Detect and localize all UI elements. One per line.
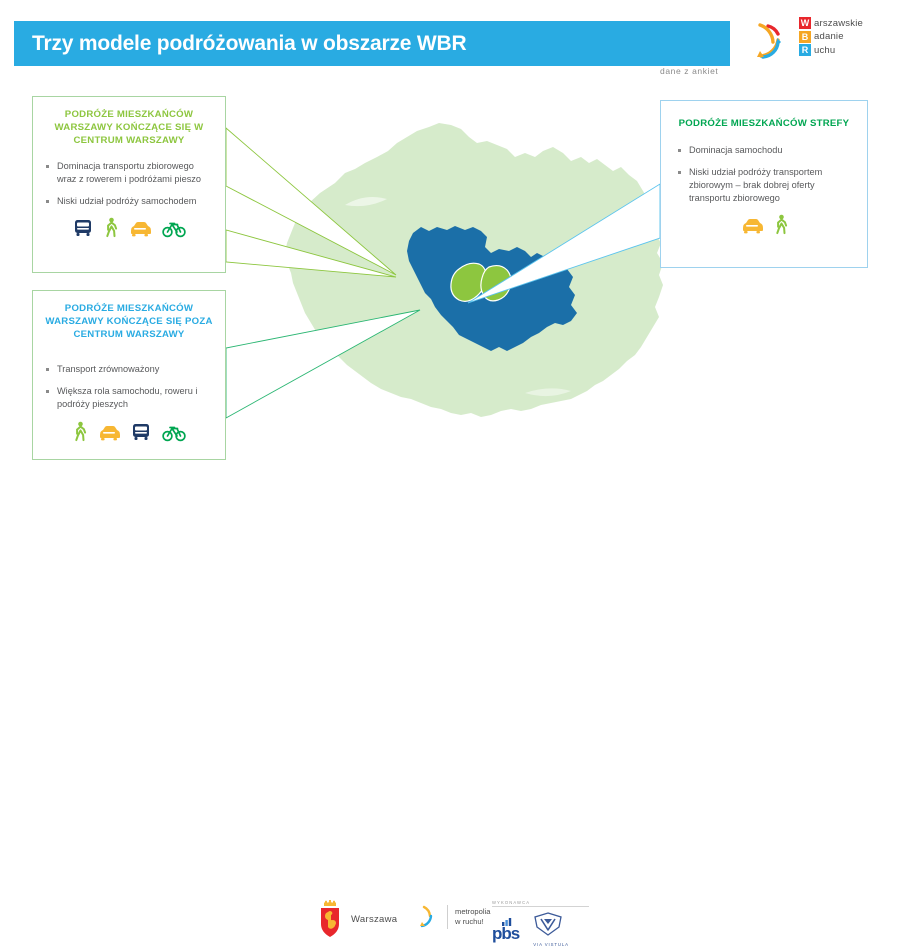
list-item: Niski udział podróży samochodem [43, 195, 211, 208]
info-box-outside-center-bullets: Transport zrównoważony Większa rola samo… [43, 363, 211, 411]
bicycle-icon [162, 217, 186, 239]
list-item: Transport zrównoważony [43, 363, 211, 376]
wbr-logo-row-b: B adanie [799, 31, 863, 43]
list-item: Większa rola samochodu, roweru i podróży… [43, 385, 211, 411]
info-box-zone-residents-icons [661, 214, 867, 236]
warsaw-metropolitan-area-map [225, 85, 665, 455]
wbr-letter-b: B [799, 31, 811, 43]
wbr-letter-w: W [799, 17, 811, 29]
pedestrian-icon [774, 214, 788, 236]
list-item: Dominacja transportu zbiorowego wraz z r… [43, 160, 211, 186]
pbs-logo-label: pbs [492, 926, 519, 941]
wbr-word-ruchu: uchu [814, 45, 835, 56]
executor-logos: WYKONAWCA pbs VIA [492, 900, 589, 947]
info-box-outside-center-icons [33, 421, 225, 443]
metropolia-logo-label-line1: metropolia [455, 907, 490, 917]
footer-logos: Warszawa metropolia w ruchu! WYKONAWCA [0, 448, 900, 507]
viavistula-mark-icon [533, 912, 563, 936]
wbr-logo-row-w: W arszawskie [799, 17, 863, 29]
metropolia-logo-label-line2: w ruchu! [455, 917, 490, 927]
info-box-zone-residents-bullets: Dominacja samochodu Niski udział podróży… [675, 144, 851, 205]
wbr-swoosh-logo [755, 18, 795, 62]
info-box-outside-center: PODRÓŻE MIESZKAŃCÓW WARSZAWY KOŃCZĄCE SI… [32, 290, 226, 460]
info-box-outside-center-title: PODRÓŻE MIESZKAŃCÓW WARSZAWY KOŃCZĄCE SI… [41, 302, 217, 341]
car-icon [741, 214, 763, 236]
slide-canvas: Trzy modele podróżowania w obszarze WBR … [0, 0, 900, 507]
header-title-bar: Trzy modele podróżowania w obszarze WBR [14, 21, 730, 66]
info-box-center-warsaw-bullets: Dominacja transportu zbiorowego wraz z r… [43, 160, 211, 208]
list-item: Dominacja samochodu [675, 144, 851, 157]
pbs-mark-icon [502, 918, 514, 926]
car-icon [98, 421, 120, 443]
bus-icon [73, 217, 93, 239]
pedestrian-icon [73, 421, 87, 443]
wbr-logo: W arszawskie B adanie R uchu [755, 16, 885, 64]
metropolia-logo-divider [447, 905, 448, 929]
wbr-letter-r: R [799, 44, 811, 56]
warszawa-logo-label: Warszawa [351, 914, 397, 925]
info-box-zone-residents: PODRÓŻE MIESZKAŃCÓW STREFY Dominacja sam… [660, 100, 868, 268]
metropolia-logo-label: metropolia w ruchu! [455, 907, 490, 927]
wbr-logo-wordmark: W arszawskie B adanie R uchu [799, 17, 863, 58]
bus-icon [131, 421, 151, 443]
page-title: Trzy modele podróżowania w obszarze WBR [32, 32, 466, 56]
executor-caption: WYKONAWCA [492, 900, 589, 905]
list-item: Niski udział podróży transportem zbiorow… [675, 166, 851, 205]
metropolia-logo: metropolia w ruchu! [418, 904, 490, 930]
bicycle-icon [162, 421, 186, 443]
metropolia-swoosh-icon [418, 904, 440, 930]
executor-logo-row: pbs VIA VISTULA [492, 912, 589, 947]
info-box-zone-residents-title: PODRÓŻE MIESZKAŃCÓW STREFY [675, 117, 853, 130]
info-box-center-warsaw: PODRÓŻE MIESZKAŃCÓW WARSZAWY KOŃCZĄCE SI… [32, 96, 226, 273]
wbr-logo-row-r: R uchu [799, 44, 863, 56]
pbs-logo: pbs [492, 918, 519, 941]
pedestrian-icon [104, 217, 118, 239]
car-icon [129, 217, 151, 239]
viavistula-logo: VIA VISTULA [533, 912, 569, 947]
source-note: dane z ankiet [660, 66, 718, 76]
info-box-center-warsaw-title: PODRÓŻE MIESZKAŃCÓW WARSZAWY KOŃCZĄCE SI… [43, 108, 215, 147]
executor-divider [492, 906, 589, 907]
warszawa-crest-icon [317, 900, 343, 938]
viavistula-logo-label: VIA VISTULA [533, 942, 569, 947]
wbr-word-badanie: adanie [814, 31, 844, 42]
info-box-center-warsaw-icons [33, 217, 225, 239]
warszawa-logo: Warszawa [317, 900, 397, 938]
map-container [225, 85, 665, 455]
wbr-word-warszawskie: arszawskie [814, 18, 863, 29]
